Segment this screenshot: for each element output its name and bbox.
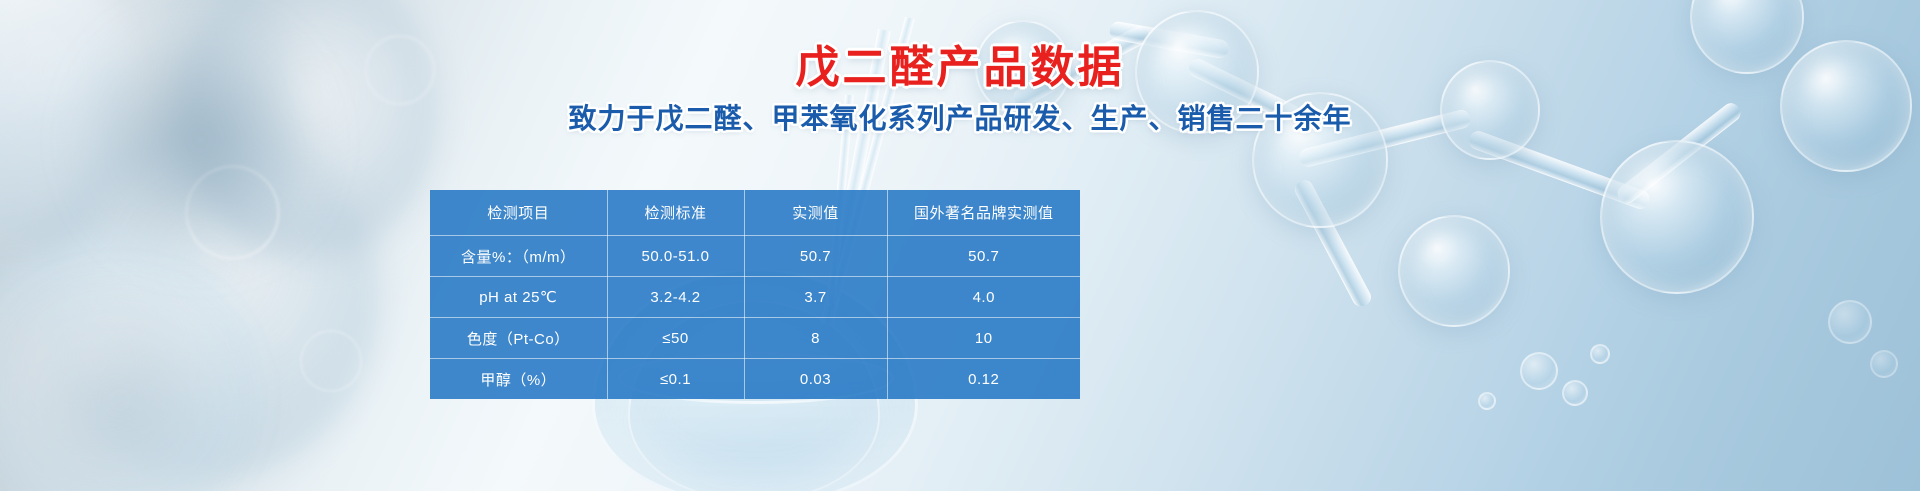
small-bubble xyxy=(1828,300,1872,344)
small-bubble xyxy=(1562,380,1588,406)
cell-test-standard: ≤50 xyxy=(607,318,744,359)
spec-table: 检测项目 检测标准 实测值 国外著名品牌实测值 含量%：（m/m） 50.0-5… xyxy=(430,190,1080,399)
product-data-banner: 戊二醛产品数据 致力于戊二醛、甲苯氧化系列产品研发、生产、销售二十余年 检测项目… xyxy=(0,0,1920,491)
cell-test-item: pH at 25℃ xyxy=(430,277,607,318)
molecule-bond xyxy=(1292,177,1375,310)
small-bubble xyxy=(1590,344,1610,364)
cell-foreign-brand-value: 50.7 xyxy=(887,236,1080,277)
cell-measured-value: 3.7 xyxy=(744,277,887,318)
small-bubble xyxy=(1870,350,1898,378)
spec-table-body: 含量%：（m/m） 50.0-51.0 50.7 50.7 pH at 25℃ … xyxy=(430,236,1080,400)
blurred-dark-accent xyxy=(0,300,250,491)
cell-test-standard: 50.0-51.0 xyxy=(607,236,744,277)
table-row: 含量%：（m/m） 50.0-51.0 50.7 50.7 xyxy=(430,236,1080,277)
column-header-foreign-brand-measured-value: 国外著名品牌实测值 xyxy=(887,190,1080,236)
molecule-node xyxy=(1600,140,1754,294)
molecule-bond xyxy=(1467,129,1652,212)
cell-foreign-brand-value: 10 xyxy=(887,318,1080,359)
column-header-measured-value: 实测值 xyxy=(744,190,887,236)
table-row: pH at 25℃ 3.2-4.2 3.7 4.0 xyxy=(430,277,1080,318)
page-subtitle: 致力于戊二醛、甲苯氧化系列产品研发、生产、销售二十余年 xyxy=(0,102,1920,136)
small-bubble xyxy=(1520,352,1558,390)
molecule-node xyxy=(1398,215,1510,327)
cell-test-item: 甲醇（%） xyxy=(430,359,607,400)
cell-test-standard: 3.2-4.2 xyxy=(607,277,744,318)
column-header-test-standard: 检测标准 xyxy=(607,190,744,236)
cell-foreign-brand-value: 0.12 xyxy=(887,359,1080,400)
headline-block: 戊二醛产品数据 致力于戊二醛、甲苯氧化系列产品研发、生产、销售二十余年 xyxy=(0,42,1920,136)
blurred-glass-blob xyxy=(0,230,260,491)
bubble-ring xyxy=(185,165,280,260)
cell-measured-value: 50.7 xyxy=(744,236,887,277)
bubble-ring xyxy=(300,330,362,392)
cell-test-item: 色度（Pt-Co） xyxy=(430,318,607,359)
cell-test-item: 含量%：（m/m） xyxy=(430,236,607,277)
page-title: 戊二醛产品数据 xyxy=(0,42,1920,94)
table-row: 甲醇（%） ≤0.1 0.03 0.12 xyxy=(430,359,1080,400)
cell-foreign-brand-value: 4.0 xyxy=(887,277,1080,318)
cell-measured-value: 0.03 xyxy=(744,359,887,400)
cell-test-standard: ≤0.1 xyxy=(607,359,744,400)
blurred-glass-blob xyxy=(40,120,380,480)
table-row: 色度（Pt-Co） ≤50 8 10 xyxy=(430,318,1080,359)
column-header-test-item: 检测项目 xyxy=(430,190,607,236)
table-header-row: 检测项目 检测标准 实测值 国外著名品牌实测值 xyxy=(430,190,1080,236)
cell-measured-value: 8 xyxy=(744,318,887,359)
small-bubble xyxy=(1478,392,1496,410)
spec-table-container: 检测项目 检测标准 实测值 国外著名品牌实测值 含量%：（m/m） 50.0-5… xyxy=(430,190,1080,399)
spec-table-head: 检测项目 检测标准 实测值 国外著名品牌实测值 xyxy=(430,190,1080,236)
